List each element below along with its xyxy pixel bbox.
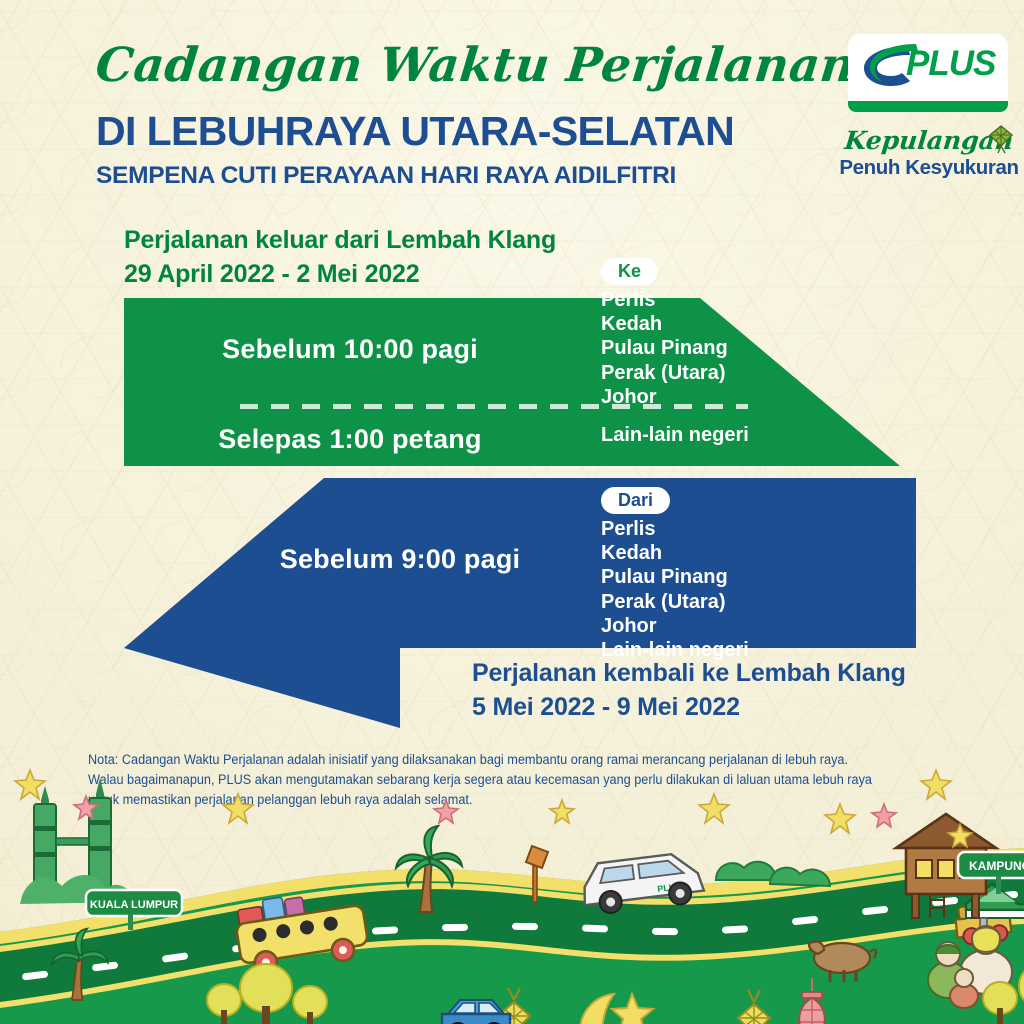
outbound-time-secondary: Selepas 1:00 petang — [124, 424, 576, 455]
outbound-caption-line1: Perjalanan keluar dari Lembah Klang — [124, 226, 556, 255]
inbound-origin-list: Perlis Kedah Pulau Pinang Perak (Utara) … — [601, 517, 749, 662]
greeting-text: Selamat Hari Raya Aidilfitri — [338, 1018, 944, 1024]
page-subtitle: SEMPENA CUTI PERAYAAN HARI RAYA AIDILFIT… — [96, 162, 676, 190]
outbound-destination-list: Perlis Kedah Pulau Pinang Perak (Utara) … — [601, 288, 728, 409]
plus-logo-inner: PLUS — [848, 34, 1008, 96]
list-item: Perlis — [601, 517, 749, 541]
list-item: Pulau Pinang — [601, 565, 749, 589]
list-item: Pulau Pinang — [601, 336, 728, 360]
list-item: Perlis — [601, 288, 728, 312]
page-title-script: Cadangan Waktu Perjalanan — [93, 38, 759, 93]
inbound-caption-dates: 5 Mei 2022 - 9 Mei 2022 — [472, 693, 906, 722]
sign-right-label: KAMPUNG — [969, 859, 1024, 873]
outbound-other-destination: Lain-lain negeri — [601, 424, 749, 447]
outbound-caption-dates: 29 April 2022 - 2 Mei 2022 — [124, 260, 556, 289]
plus-logo: PLUS — [848, 34, 1008, 112]
raya-tagline: Kepulangan Penuh Kesyukuran — [836, 128, 1022, 180]
list-item: Johor — [601, 614, 749, 638]
inbound-caption: Perjalanan kembali ke Lembah Klang 5 Mei… — [472, 659, 906, 722]
poster-root: Cadangan Waktu Perjalanan DI LEBUHRAYA U… — [0, 0, 1024, 1024]
inbound-badge: Dari — [601, 487, 670, 514]
list-item: Perak (Utara) — [601, 361, 728, 385]
plus-logo-bar — [848, 101, 1008, 112]
raya-illustration: KUALA LUMPUR — [0, 764, 1024, 1024]
list-item: Kedah — [601, 541, 749, 565]
outbound-badge: Ke — [601, 258, 658, 285]
sign-left-label: KUALA LUMPUR — [90, 899, 178, 911]
star-decorations — [15, 770, 951, 833]
list-item: Kedah — [601, 312, 728, 336]
inbound-time-primary: Sebelum 9:00 pagi — [200, 544, 600, 575]
page-title-main: DI LEBUHRAYA UTARA-SELATAN — [96, 108, 734, 155]
list-item: Perak (Utara) — [601, 590, 749, 614]
tagline-line2: Penuh Kesyukuran — [836, 156, 1022, 180]
outbound-time-primary: Sebelum 10:00 pagi — [124, 334, 576, 365]
ketupat-icon — [986, 122, 1016, 154]
inbound-caption-line1: Perjalanan kembali ke Lembah Klang — [472, 659, 906, 688]
outbound-caption: Perjalanan keluar dari Lembah Klang 29 A… — [124, 226, 556, 289]
plus-logo-text: PLUS — [906, 44, 995, 84]
star-decorations-pink — [74, 764, 1024, 827]
list-item: Johor — [601, 385, 728, 409]
